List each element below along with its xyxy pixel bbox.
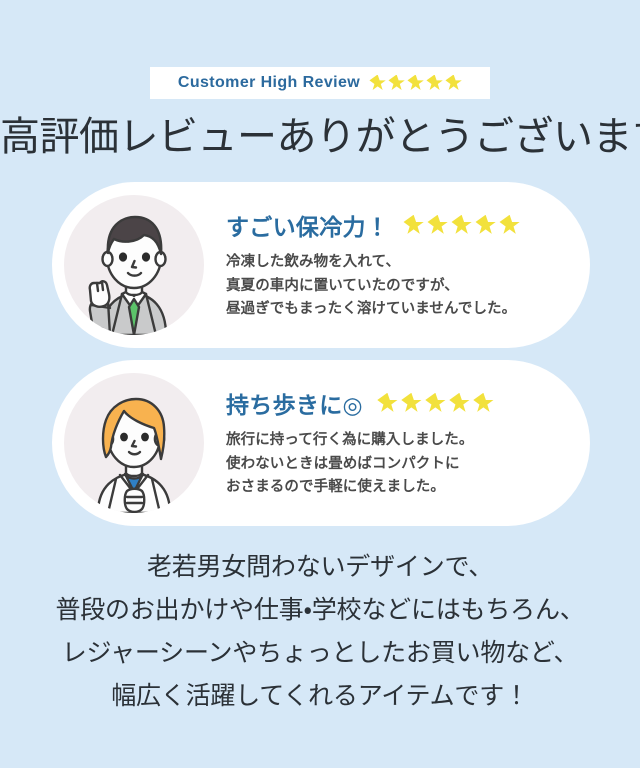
star-icon bbox=[499, 215, 520, 236]
avatar-woman bbox=[64, 373, 204, 513]
star-icon bbox=[427, 215, 448, 236]
star-icon bbox=[403, 215, 424, 236]
star-icon bbox=[377, 393, 398, 414]
review-card: 持ち歩きに◎ 旅行に持って行く為に購入しました。 使わないときは畳めばコンパクト… bbox=[52, 360, 590, 526]
review-text-line: 真夏の車内に置いていたのですが、 bbox=[226, 275, 564, 298]
star-icon bbox=[473, 393, 494, 414]
customer-review-banner: Customer High Review bbox=[150, 67, 490, 99]
star-icon bbox=[426, 75, 443, 92]
review-heading-row: すごい保冷力！ bbox=[226, 208, 564, 242]
footer-description: 老若男女問わないデザインで、 普段のお出かけや仕事・学校などにはもちろん、 レジ… bbox=[0, 546, 640, 718]
star-icon bbox=[449, 393, 470, 414]
banner-star-rating bbox=[369, 75, 462, 92]
review-heading-row: 持ち歩きに◎ bbox=[226, 386, 564, 420]
review-card: すごい保冷力！ 冷凍した飲み物を入れて、 真夏の車内に置いていたのですが、 昼過… bbox=[52, 182, 590, 348]
review-text-line: 冷凍した飲み物を入れて、 bbox=[226, 251, 564, 274]
star-icon bbox=[369, 75, 386, 92]
star-icon bbox=[401, 393, 422, 414]
review-star-rating bbox=[377, 393, 494, 414]
banner-label: Customer High Review bbox=[178, 74, 360, 92]
review-text: 旅行に持って行く為に購入しました。 使わないときは畳めばコンパクトに おさまるの… bbox=[226, 429, 564, 499]
review-title: 持ち歩きに◎ bbox=[226, 386, 363, 420]
review-title: すごい保冷力！ bbox=[226, 208, 389, 242]
review-text-line: おさまるので手軽に使えました。 bbox=[226, 476, 564, 499]
review-star-rating bbox=[403, 215, 520, 236]
footer-line: 老若男女問わないデザインで、 bbox=[0, 546, 640, 589]
footer-line: 普段のお出かけや仕事・学校などにはもちろん、 bbox=[0, 589, 640, 632]
review-content: 持ち歩きに◎ 旅行に持って行く為に購入しました。 使わないときは畳めばコンパクト… bbox=[204, 386, 590, 499]
review-content: すごい保冷力！ 冷凍した飲み物を入れて、 真夏の車内に置いていたのですが、 昼過… bbox=[204, 208, 590, 321]
footer-line: レジャーシーンやちょっとしたお買い物など、 bbox=[0, 632, 640, 675]
page-headline: 高評価レビューありがとうございます！ bbox=[0, 104, 640, 162]
review-text-line: 旅行に持って行く為に購入しました。 bbox=[226, 429, 564, 452]
star-icon bbox=[407, 75, 424, 92]
star-icon bbox=[445, 75, 462, 92]
review-text-line: 昼過ぎでもまったく溶けていませんでした。 bbox=[226, 298, 564, 321]
star-icon bbox=[388, 75, 405, 92]
star-icon bbox=[475, 215, 496, 236]
review-text: 冷凍した飲み物を入れて、 真夏の車内に置いていたのですが、 昼過ぎでもまったく溶… bbox=[226, 251, 564, 321]
star-icon bbox=[425, 393, 446, 414]
avatar-businessman bbox=[64, 195, 204, 335]
star-icon bbox=[451, 215, 472, 236]
review-text-line: 使わないときは畳めばコンパクトに bbox=[226, 453, 564, 476]
footer-line: 幅広く活躍してくれるアイテムです！ bbox=[0, 675, 640, 718]
